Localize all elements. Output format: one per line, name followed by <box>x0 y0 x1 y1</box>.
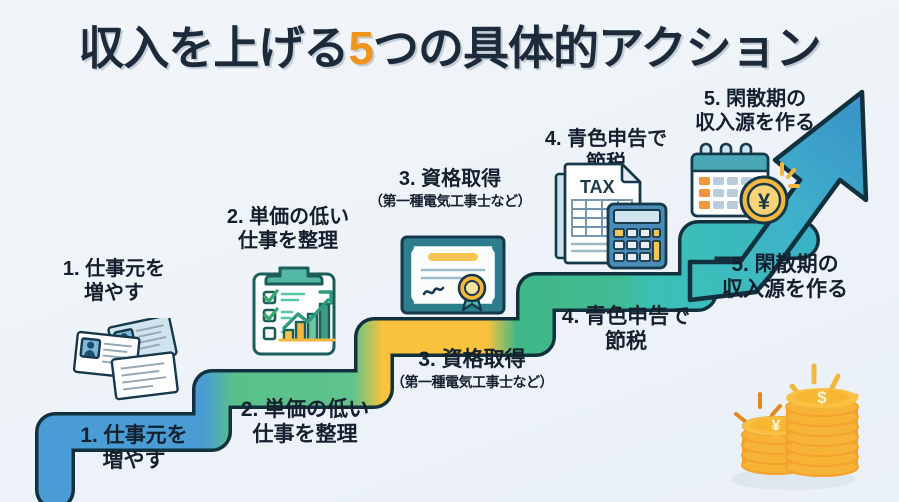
step-3-bottom-subtitle: （第一種電気工事士など） <box>374 374 570 391</box>
business-cards-icon <box>68 318 186 415</box>
coin-stacks-icon: ¥ $ <box>708 348 878 498</box>
step-5-bottom-line1: 5. 閑散期の <box>692 253 878 278</box>
step-5-bottom-label: 5. 閑散期の 収入源を作る <box>692 253 878 303</box>
infographic-canvas: 収入を上げる5つの具体的アクション 1. 仕事元を 増やす 2. 単価の低い 仕… <box>0 0 899 502</box>
tax-calculator-icon: TAX <box>552 160 672 277</box>
step-2-bottom-line2: 仕事を整理 <box>212 423 398 448</box>
page-title: 収入を上げる5つの具体的アクション <box>0 12 899 78</box>
step-1-bottom-line2: 増やす <box>50 449 218 474</box>
yen-symbol: ¥ <box>771 416 781 435</box>
certificate-icon <box>398 232 508 325</box>
title-prefix: 収入を上げる <box>78 22 348 74</box>
calendar-yen-icon: ¥ <box>688 142 806 239</box>
step-5-bottom-line2: 収入源を作る <box>692 278 878 303</box>
step-1-bottom-label: 1. 仕事元を 増やす <box>50 424 218 474</box>
dollar-symbol: $ <box>817 388 827 407</box>
title-suffix: つの具体的アクション <box>373 22 821 74</box>
step-2-bottom-label: 2. 単価の低い 仕事を整理 <box>212 398 398 448</box>
step-4-bottom-line1: 4. 青色申告で <box>536 305 716 330</box>
sparkle-rays <box>782 164 798 186</box>
step-5-top-line1: 5. 閑散期の <box>664 88 846 112</box>
dollar-coin-stack: $ <box>786 388 858 476</box>
step-4-bottom-line2: 節税 <box>536 330 716 355</box>
step-2-bottom-line1: 2. 単価の低い <box>212 398 398 423</box>
step-1-top-line1: 1. 仕事元を <box>34 258 194 282</box>
step-2-top-line1: 2. 単価の低い <box>198 206 378 230</box>
step-2-top-line2: 仕事を整理 <box>198 230 378 254</box>
step-1-top-line2: 増やす <box>34 282 194 306</box>
tax-document-label: TAX <box>580 177 615 197</box>
svg-text:¥: ¥ <box>758 189 771 214</box>
title-number: 5 <box>348 22 373 74</box>
step-5-top-line2: 収入源を作る <box>664 112 846 136</box>
step-4-bottom-label: 4. 青色申告で 節税 <box>536 305 716 355</box>
step-1-top-label: 1. 仕事元を 増やす <box>34 258 194 305</box>
step-3-top-subtitle: （第一種電気工事士など） <box>352 193 548 210</box>
step-2-top-label: 2. 単価の低い 仕事を整理 <box>198 206 378 253</box>
clipboard-chart-icon <box>244 262 344 365</box>
step-5-top-label: 5. 閑散期の 収入源を作る <box>664 88 846 135</box>
step-1-bottom-line1: 1. 仕事元を <box>50 424 218 449</box>
